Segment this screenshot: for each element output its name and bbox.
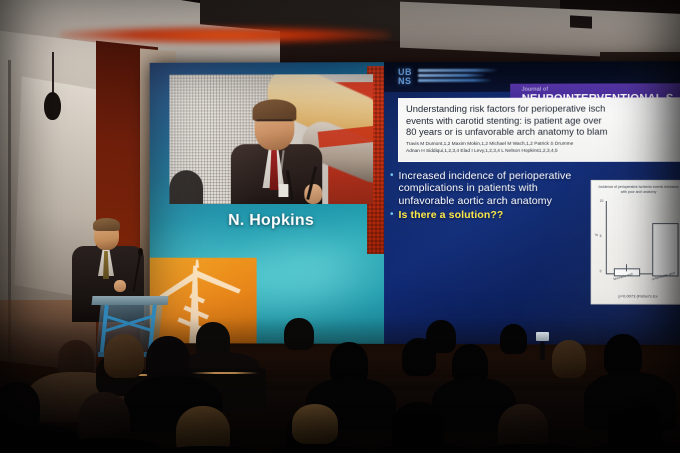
video-foreground-head — [169, 170, 203, 204]
audience-shoulders — [260, 446, 380, 453]
lectern-top — [92, 296, 169, 305]
live-video-inset — [169, 74, 373, 204]
slide-bullet-item: • Is there a solution?? — [390, 209, 587, 221]
ubns-logo: UB NS — [398, 68, 498, 85]
audience-head — [604, 334, 642, 376]
slide-bullet-text-highlight: Is there a solution?? — [399, 209, 504, 221]
chart-y-tick: 5 — [600, 234, 602, 238]
microphone-icon — [138, 248, 143, 256]
presentation-slide: UB NS Journal of NEUROINTERVENTIONAL S U… — [384, 61, 680, 345]
audience-head — [284, 318, 314, 350]
audience-shoulders — [470, 444, 590, 453]
ubns-monogram: UB NS — [398, 68, 412, 85]
paper-title-line-2: events with carotid stenting: is patient… — [399, 114, 680, 126]
slide-bullet-list: • Increased incidence of perioperative c… — [390, 170, 587, 224]
audience-head — [500, 324, 527, 354]
paper-abstract-card: Understanding risk factors for periopera… — [398, 97, 680, 162]
projected-image: N. Hopkins UB NS Journal of NE — [150, 61, 680, 345]
paper-title-line-3: 80 years or is unfavorable arch anatomy … — [399, 126, 680, 138]
projection-screen: N. Hopkins UB NS Journal of NE — [150, 61, 680, 345]
ubns-logo-line2: NS — [398, 77, 412, 86]
chart-bar-unfavorable — [652, 223, 678, 276]
slide-bullet-text: Increased incidence of perioperative com… — [399, 170, 587, 207]
chart-title: Incidence of perioperative ischemic even… — [592, 181, 680, 195]
screen-left-panel: N. Hopkins — [150, 62, 384, 344]
ubns-wordmark-blur — [418, 69, 498, 84]
audience-shoulders — [150, 446, 266, 453]
paper-title-line-1: Understanding risk factors for periopera… — [399, 98, 680, 114]
chart-y-tick: 0 — [600, 269, 602, 273]
video-speaker-badge — [278, 184, 288, 197]
conference-photo-screenshot: N. Hopkins UB NS Journal of NE — [0, 0, 680, 453]
video-speaker-hair — [253, 99, 297, 121]
chart-y-tick: 10 — [600, 199, 604, 203]
spotlight-icon — [44, 92, 61, 120]
bullet-dot-icon: • — [390, 209, 394, 221]
paper-authors-line-1: Travis M Dumont,1,2 Maxim Mokin,1,2 Mich… — [399, 137, 680, 147]
slide-bullet-item: • Increased incidence of perioperative c… — [390, 170, 587, 207]
chart-errorbar-favorable — [626, 264, 627, 271]
audience-shoulders — [366, 444, 484, 453]
chart-y-axis — [606, 201, 607, 273]
chart-y-axis-label: % — [595, 233, 598, 237]
glasses-icon — [257, 119, 293, 128]
chair-highlight — [192, 372, 258, 374]
raised-arm — [540, 342, 545, 360]
chart-plot-area: % 10 5 0 favorable arch unfavorable arch — [606, 201, 679, 277]
speaker-hand — [114, 280, 126, 292]
chart-pvalue-annotation: p=0.0073 (Fisher's Ex — [592, 293, 680, 298]
speaker-name-caption: N. Hopkins — [169, 212, 373, 230]
audience-head — [402, 338, 436, 376]
speaker-hair — [93, 218, 120, 231]
audience-head — [292, 404, 338, 444]
video-speaker-figure — [221, 102, 332, 204]
slide-figure-chart: Incidence of perioperative ischemic even… — [591, 180, 680, 305]
audience-head — [552, 340, 586, 378]
audience-area — [0, 318, 680, 453]
bullet-dot-icon: • — [390, 170, 394, 207]
audience-head — [104, 334, 144, 378]
paper-authors-line-2: Adnan H Siddiqui,1,2,3,4 Elad I Levy,1,2… — [399, 147, 680, 154]
spotlight-rod — [52, 52, 54, 96]
camera-phone-icon — [536, 332, 549, 341]
audience-shoulders — [582, 442, 680, 453]
ceiling-vent-icon — [570, 15, 592, 28]
